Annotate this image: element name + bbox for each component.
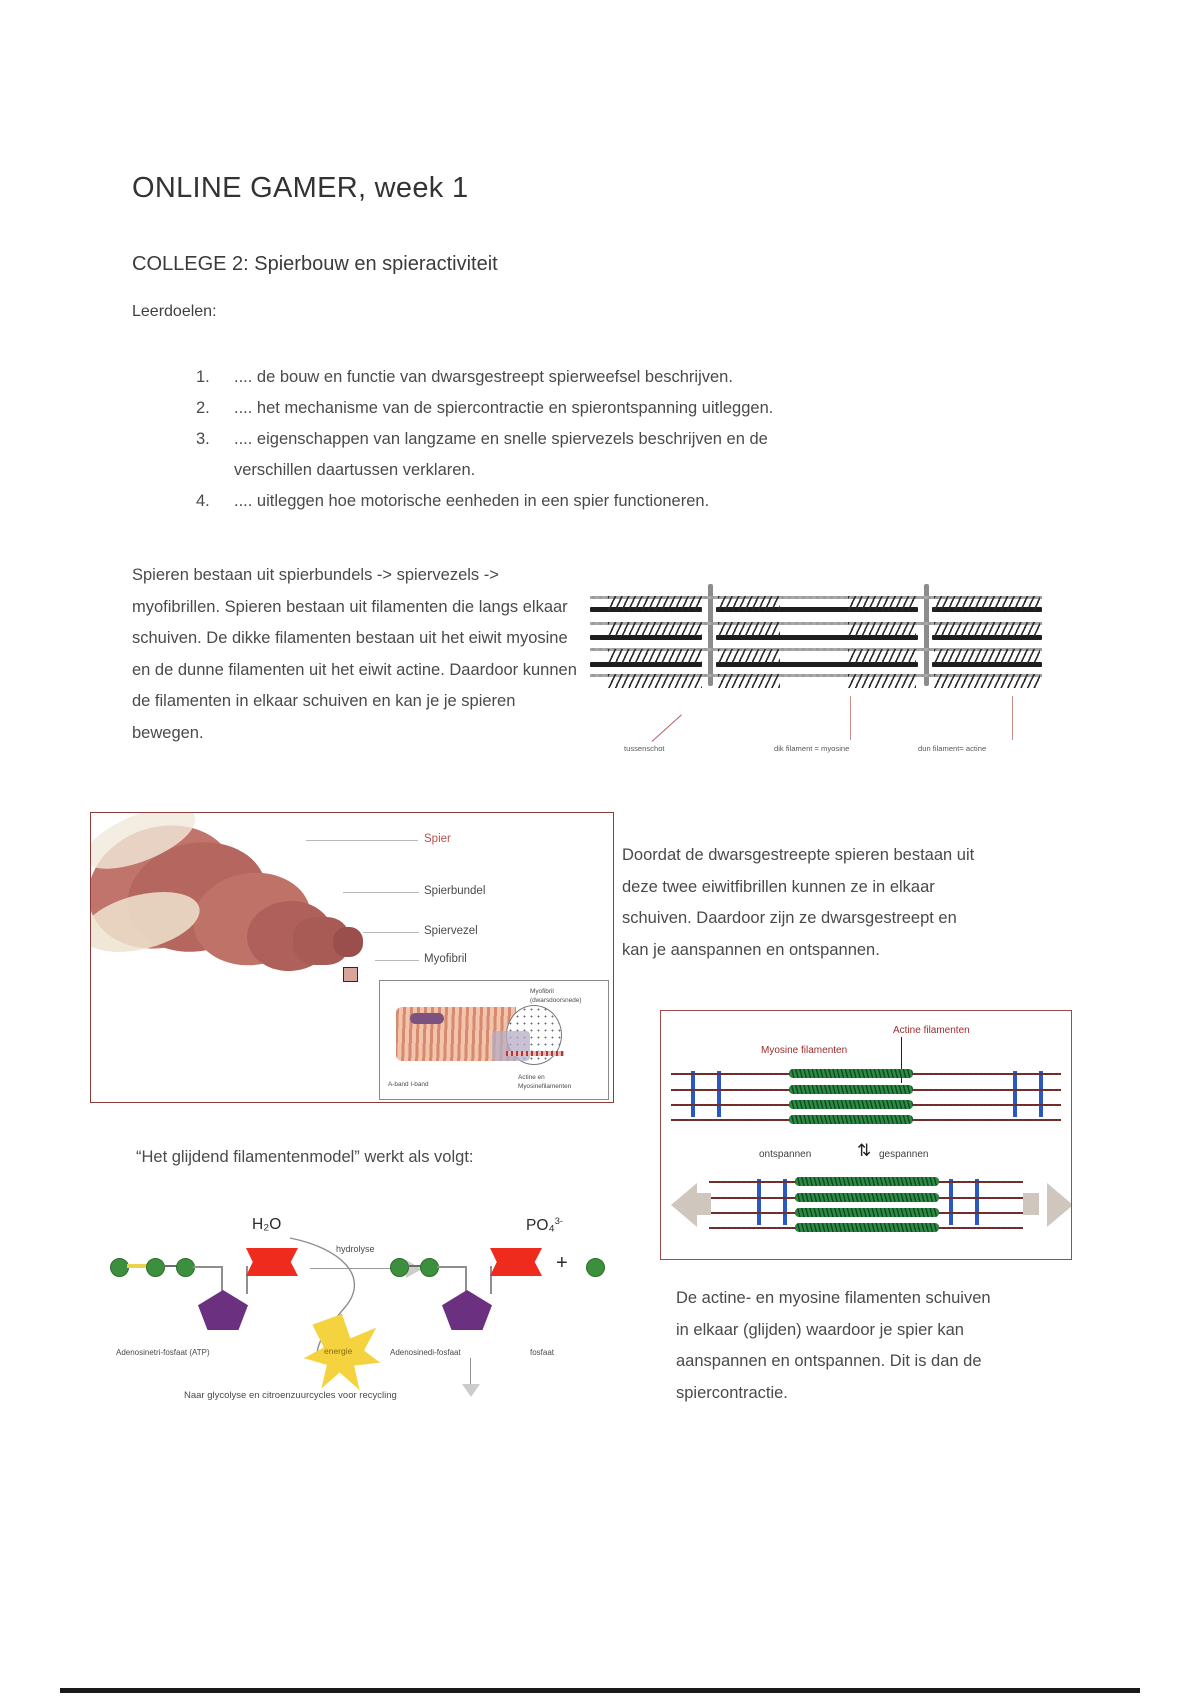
phosphate-group [146, 1258, 165, 1277]
ribose-pentagon [198, 1290, 248, 1330]
myosin-filament [789, 1085, 913, 1094]
caption-leader [652, 714, 683, 742]
myosin-head-array [848, 674, 916, 688]
myosin-head-array [934, 596, 1040, 610]
z-line [975, 1179, 979, 1225]
toggle-arrows-icon: ⇅ [857, 1141, 871, 1161]
phosphate-charge: 3- [555, 1216, 563, 1226]
phosphate-group [390, 1258, 409, 1277]
connector [490, 1266, 492, 1294]
myosin-head-array [718, 649, 780, 663]
myosin-filament [789, 1100, 913, 1109]
label-myofibril: Myofibril [424, 953, 467, 965]
myosin-filament [795, 1223, 939, 1232]
list-item-label: .... uitleggen hoe motorische eenheden i… [234, 486, 956, 517]
label-spier: Spier [424, 833, 451, 845]
list-item-label: .... eigenschappen van langzame en snell… [234, 424, 956, 455]
myosin-filament [795, 1208, 939, 1217]
myosin-head-array [608, 622, 702, 636]
sliding-model-quote: “Het glijdend filamentenmodel” werkt als… [136, 1148, 474, 1167]
figure-sliding-filament: Actine filamenten Myosine filamenten ont… [660, 1010, 1072, 1260]
filament-detail [506, 1051, 564, 1056]
list-item-number: 2. [196, 393, 234, 424]
contraction-arrow-right-icon [1047, 1183, 1072, 1227]
myosin-head-array [718, 622, 780, 636]
paragraph-middle: Doordat de dwarsgestreepte spieren besta… [622, 840, 982, 966]
objectives-label: Leerdoelen: [132, 303, 217, 321]
free-phosphate-group [586, 1258, 605, 1277]
document-page: ONLINE GAMER, week 1 COLLEGE 2: Spierbou… [0, 0, 1200, 1700]
inset-label-bands: A-band I-band [388, 1080, 429, 1089]
label-energie: energie [324, 1346, 352, 1356]
label-actine-filamenten: Actine filamenten [893, 1025, 970, 1036]
z-line [691, 1071, 695, 1117]
z-line [924, 584, 929, 686]
z-line [708, 584, 713, 686]
recycle-arrow-head-icon [462, 1384, 480, 1397]
caption-adp: Adenosinedi-fosfaat [390, 1348, 461, 1357]
list-item: 3. .... eigenschappen van langzame en sn… [196, 424, 956, 455]
label-phosphate-formula: PO₄3- [526, 1216, 563, 1235]
inset-label-myofibril: Myofibril [530, 987, 554, 996]
z-line [949, 1179, 953, 1225]
myosin-head-array [718, 674, 780, 688]
section-heading: COLLEGE 2: Spierbouw en spieractiviteit [132, 253, 498, 276]
label-leader [375, 960, 419, 961]
page-title: ONLINE GAMER, week 1 [132, 172, 468, 205]
myosin-head-array [934, 674, 1040, 688]
connector [221, 1266, 223, 1294]
adenine-flag [490, 1248, 542, 1276]
label-leader [306, 840, 418, 841]
label-leader [343, 892, 419, 893]
myosin-head-array [848, 649, 916, 663]
myosin-head-array [848, 622, 916, 636]
list-item-label: .... het mechanisme van de spiercontract… [234, 393, 956, 424]
myosin-filament [795, 1177, 939, 1186]
paragraph-bottom: De actine- en myosine filamenten schuive… [676, 1283, 996, 1409]
myosin-head-array [934, 649, 1040, 663]
objectives-list: 1. .... de bouw en functie van dwarsgest… [196, 362, 956, 517]
myosin-head-array [608, 674, 702, 688]
recycle-arrow-shaft [470, 1358, 471, 1386]
figure-muscle-anatomy: Spier Spierbundel Spiervezel Myofibril M… [90, 812, 614, 1103]
figure-sarcomere: tussenschot dik filament = myosine dun f… [582, 578, 1048, 746]
caption-fosfaat: fosfaat [530, 1348, 554, 1357]
caption-thick-filament: dik filament = myosine [774, 744, 849, 753]
high-energy-bond [127, 1264, 147, 1268]
label-spiervezel: Spiervezel [424, 925, 478, 937]
z-line [1013, 1071, 1017, 1117]
myosin-head-array [848, 596, 916, 610]
list-item-continuation: verschillen daartussen verklaren. [234, 455, 956, 486]
label-water: H₂O [252, 1216, 281, 1234]
bond [407, 1265, 421, 1267]
zoom-marker-icon [343, 967, 358, 982]
myosin-head-array [608, 649, 702, 663]
plus-sign: + [556, 1252, 568, 1275]
myosin-filament [789, 1069, 913, 1078]
caption-tussenschot: tussenschot [624, 744, 665, 753]
label-leader [363, 932, 419, 933]
caption-leader [850, 696, 851, 740]
nucleus [410, 1013, 444, 1024]
list-item-number: 3. [196, 424, 234, 455]
z-line [1039, 1071, 1043, 1117]
z-line [757, 1179, 761, 1225]
connector [193, 1266, 223, 1268]
myosin-filament [795, 1193, 939, 1202]
filament-bundle [492, 1031, 530, 1061]
state-label-ontspannen: ontspannen [759, 1149, 811, 1160]
paragraph-intro: Spieren bestaan uit spierbundels -> spie… [132, 560, 584, 749]
myosin-head-array [718, 596, 780, 610]
list-item-number: 4. [196, 486, 234, 517]
inset-label-filaments-1: Actine en [518, 1073, 545, 1082]
contraction-arrow-left-tail [695, 1193, 711, 1215]
myosin-head-array [608, 596, 702, 610]
label-myosine-filamenten: Myosine filamenten [761, 1045, 847, 1056]
myosin-filament [789, 1115, 913, 1124]
contraction-arrow-left-icon [671, 1183, 697, 1227]
z-line [783, 1179, 787, 1225]
note-recycling: Naar glycolyse en citroenzuurcycles voor… [184, 1390, 397, 1401]
list-item-label: .... de bouw en functie van dwarsgestree… [234, 362, 956, 393]
phosphate-formula-text: PO₄ [526, 1217, 555, 1234]
caption-thin-filament: dun filament= actine [918, 744, 986, 753]
connector [437, 1266, 467, 1268]
list-item: 2. .... het mechanisme van de spiercontr… [196, 393, 956, 424]
sarcomere-stage [590, 592, 1042, 692]
list-item-number: 1. [196, 362, 234, 393]
inset-label-cross-section: (dwarsdoorsnede) [530, 996, 582, 1005]
contraction-arrow-right-tail [1023, 1193, 1039, 1215]
muscle-belly-illustration [97, 821, 407, 1001]
footer-rule [60, 1688, 1140, 1693]
list-item: 1. .... de bouw en functie van dwarsgest… [196, 362, 956, 393]
figure-atp-hydrolysis: hydrolyse H₂O energie + PO₄3- Adenosinet… [100, 1196, 660, 1426]
connector [465, 1266, 467, 1294]
muscle-fiber [333, 927, 363, 957]
label-spierbundel: Spierbundel [424, 885, 485, 897]
list-item: 4. .... uitleggen hoe motorische eenhede… [196, 486, 956, 517]
z-line [717, 1071, 721, 1117]
bond [163, 1265, 177, 1267]
caption-atp: Adenosinetri-fosfaat (ATP) [116, 1348, 210, 1357]
connector [246, 1266, 248, 1294]
inset-myofibril: Myofibril (dwarsdoorsnede) A-band I-band… [379, 980, 609, 1100]
state-label-gespannen: gespannen [879, 1149, 929, 1160]
myosin-head-array [934, 622, 1040, 636]
ribose-pentagon [442, 1290, 492, 1330]
inset-label-filaments-2: Myosinefilamenten [518, 1082, 571, 1091]
caption-leader [1012, 696, 1013, 740]
